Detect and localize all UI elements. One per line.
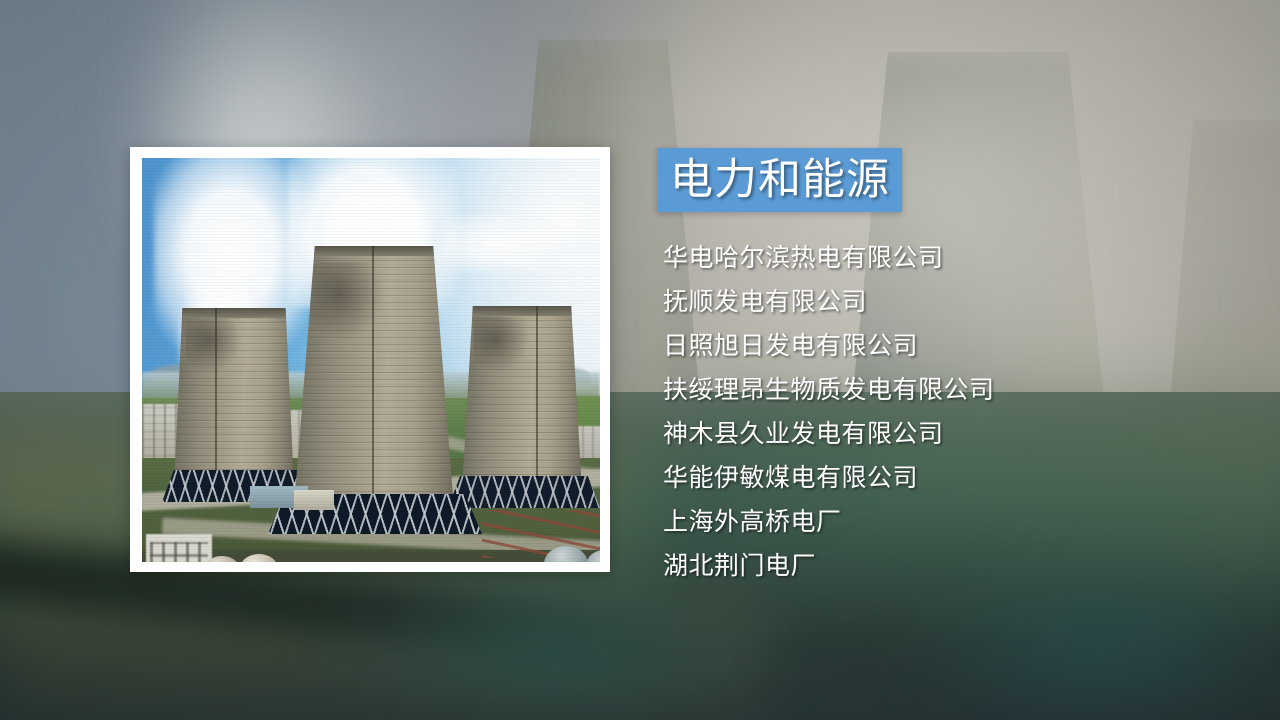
list-item: 上海外高桥电厂 (663, 500, 1223, 544)
slide-canvas: 电力和能源 华电哈尔滨热电有限公司 抚顺发电有限公司 日照旭日发电有限公司 扶绥… (0, 0, 1280, 720)
list-item: 华能伊敏煤电有限公司 (663, 456, 1223, 500)
photo-shed-left-2 (294, 490, 334, 510)
tower-rim (174, 308, 294, 318)
list-item: 湖北荆门电厂 (663, 544, 1223, 588)
title-banner: 电力和能源 (657, 148, 902, 212)
list-item: 扶绥理昂生物质发电有限公司 (663, 368, 1223, 412)
tower-grime (186, 319, 241, 372)
tower-seam (536, 306, 538, 490)
power-plant-photo (142, 158, 600, 562)
page-title: 电力和能源 (670, 159, 890, 202)
photo-cooling-tower-right (462, 306, 582, 490)
list-item: 抚顺发电有限公司 (663, 280, 1223, 324)
tower-rim (462, 306, 582, 316)
photo-card (130, 147, 610, 572)
list-item: 华电哈尔滨热电有限公司 (663, 236, 1223, 280)
photo-pipe-rack (482, 510, 600, 558)
tower-grime (310, 262, 384, 341)
photo-steam-plume-right (440, 214, 560, 270)
list-item: 神木县久业发电有限公司 (663, 412, 1223, 456)
photo-cooling-tower-left (174, 308, 294, 486)
tower-grime (474, 317, 529, 372)
photo-building-bottom-left (146, 534, 212, 562)
list-item: 日照旭日发电有限公司 (663, 324, 1223, 368)
photo-cooling-tower-right-supports (448, 476, 600, 508)
photo-cooling-tower-center (294, 246, 454, 508)
company-list: 华电哈尔滨热电有限公司 抚顺发电有限公司 日照旭日发电有限公司 扶绥理昂生物质发… (663, 236, 1223, 588)
